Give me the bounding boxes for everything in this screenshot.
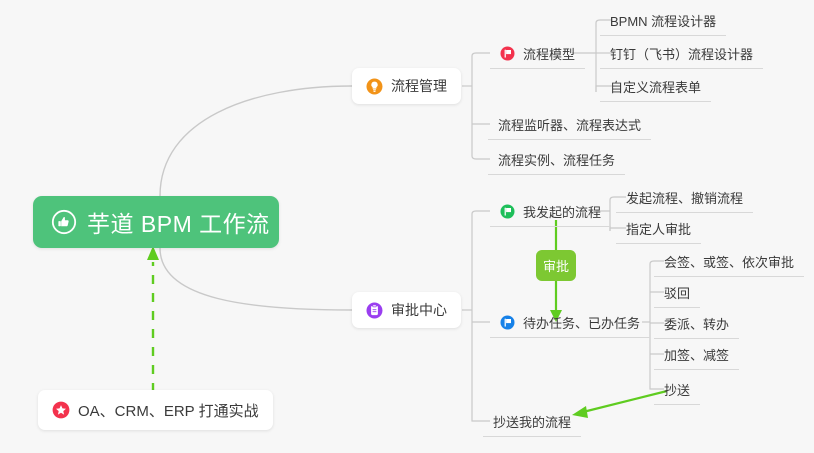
branch-node-approval-center[interactable]: 审批中心 <box>352 292 461 328</box>
node-assignee-approval[interactable]: 指定人审批 <box>616 216 701 244</box>
node-label-countersign: 会签、或签、依次审批 <box>664 255 794 270</box>
flag-icon-green <box>500 204 515 219</box>
node-bpmn-designer[interactable]: BPMN 流程设计器 <box>600 8 726 36</box>
node-cc-to-me[interactable]: 抄送我的流程 <box>483 409 581 437</box>
mindmap-canvas: 芋道 BPM 工作流 流程管理 流程模型 BPMN 流程设计器 钉钉（飞书）流程… <box>0 0 814 453</box>
edge-root-to-process-management <box>160 86 352 196</box>
root-node[interactable]: 芋道 BPM 工作流 <box>33 196 279 248</box>
node-delegate-transfer[interactable]: 委派、转办 <box>654 311 739 339</box>
root-node-label: 芋道 BPM 工作流 <box>87 205 270 239</box>
node-label-custom-form: 自定义流程表单 <box>610 80 701 95</box>
node-process-model[interactable]: 流程模型 <box>490 41 585 69</box>
callout-node-integration[interactable]: OA、CRM、ERP 打通实战 <box>38 390 273 430</box>
node-dingtalk-designer[interactable]: 钉钉（飞书）流程设计器 <box>600 41 763 69</box>
branch-node-process-management[interactable]: 流程管理 <box>352 68 461 104</box>
node-carbon-copy[interactable]: 抄送 <box>654 377 700 405</box>
node-label-reject: 驳回 <box>664 286 690 301</box>
lightbulb-icon <box>366 78 383 95</box>
node-reject[interactable]: 驳回 <box>654 280 700 308</box>
node-label-todo-done-tasks: 待办任务、已办任务 <box>523 313 640 332</box>
integration-arrow-head <box>147 246 159 260</box>
branch-label-process-management: 流程管理 <box>391 76 447 96</box>
node-start-cancel-process[interactable]: 发起流程、撤销流程 <box>616 185 753 213</box>
node-label-cc-to-me: 抄送我的流程 <box>493 415 571 430</box>
node-todo-done-tasks[interactable]: 待办任务、已办任务 <box>490 310 650 338</box>
node-label-delegate-transfer: 委派、转办 <box>664 317 729 332</box>
edge-ac-to-mine <box>472 211 490 218</box>
flag-icon-blue <box>500 315 515 330</box>
node-instance-task[interactable]: 流程实例、流程任务 <box>488 147 625 175</box>
node-label-instance-task: 流程实例、流程任务 <box>498 153 615 168</box>
approval-badge-label: 审批 <box>543 256 569 275</box>
node-label-my-initiated: 我发起的流程 <box>523 202 601 221</box>
approval-badge: 审批 <box>536 250 576 281</box>
callout-label-integration: OA、CRM、ERP 打通实战 <box>78 400 259 421</box>
node-label-carbon-copy: 抄送 <box>664 383 690 398</box>
edge-pm-to-model <box>472 53 490 60</box>
node-label-assignee-approval: 指定人审批 <box>626 222 691 237</box>
node-label-start-cancel-process: 发起流程、撤销流程 <box>626 191 743 206</box>
node-label-bpmn-designer: BPMN 流程设计器 <box>610 14 716 29</box>
node-custom-form[interactable]: 自定义流程表单 <box>600 74 711 102</box>
clipboard-icon <box>366 302 383 319</box>
flag-icon-red <box>500 46 515 61</box>
star-icon <box>52 401 70 419</box>
node-label-process-model: 流程模型 <box>523 44 575 63</box>
edge-root-to-approval-center <box>160 248 352 310</box>
node-countersign[interactable]: 会签、或签、依次审批 <box>654 249 804 277</box>
node-listener-expression[interactable]: 流程监听器、流程表达式 <box>488 112 651 140</box>
node-label-dingtalk-designer: 钉钉（飞书）流程设计器 <box>610 47 753 62</box>
branch-label-approval-center: 审批中心 <box>391 300 447 320</box>
node-add-remove-sign[interactable]: 加签、减签 <box>654 342 739 370</box>
node-label-add-remove-sign: 加签、减签 <box>664 348 729 363</box>
node-label-listener-expression: 流程监听器、流程表达式 <box>498 118 641 133</box>
node-my-initiated[interactable]: 我发起的流程 <box>490 199 611 227</box>
thumbs-up-icon <box>51 209 77 235</box>
